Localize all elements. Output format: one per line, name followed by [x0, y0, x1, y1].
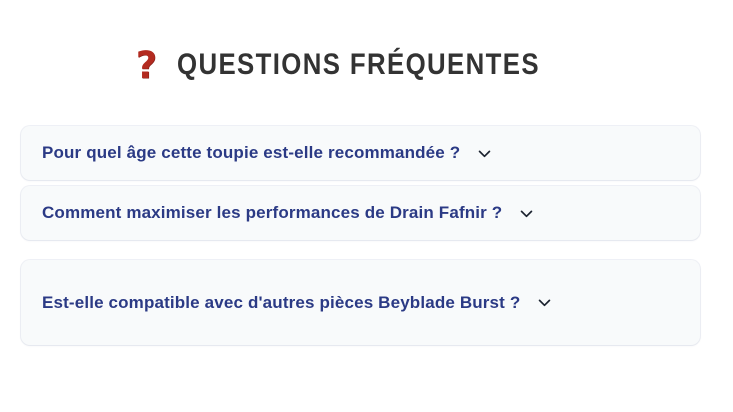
- faq-question-label: Pour quel âge cette toupie est-elle reco…: [42, 140, 460, 166]
- faq-question-label: Est-elle compatible avec d'autres pièces…: [42, 290, 520, 316]
- faq-item-3[interactable]: Est-elle compatible avec d'autres pièces…: [21, 260, 700, 345]
- chevron-down-icon[interactable]: [474, 143, 494, 163]
- faq-header: ? QUESTIONS FRÉQUENTES: [0, 22, 733, 108]
- faq-item-2[interactable]: Comment maximiser les performances de Dr…: [21, 186, 700, 240]
- faq-accordion-list: Pour quel âge cette toupie est-elle reco…: [21, 126, 700, 345]
- faq-section: ? QUESTIONS FRÉQUENTES Pour quel âge cet…: [0, 0, 733, 412]
- question-mark-icon: ?: [133, 46, 159, 86]
- chevron-down-icon[interactable]: [516, 203, 536, 223]
- faq-question-label: Comment maximiser les performances de Dr…: [42, 200, 502, 226]
- page-title: QUESTIONS FRÉQUENTES: [177, 47, 540, 83]
- chevron-down-icon[interactable]: [534, 293, 554, 313]
- faq-item-1[interactable]: Pour quel âge cette toupie est-elle reco…: [21, 126, 700, 180]
